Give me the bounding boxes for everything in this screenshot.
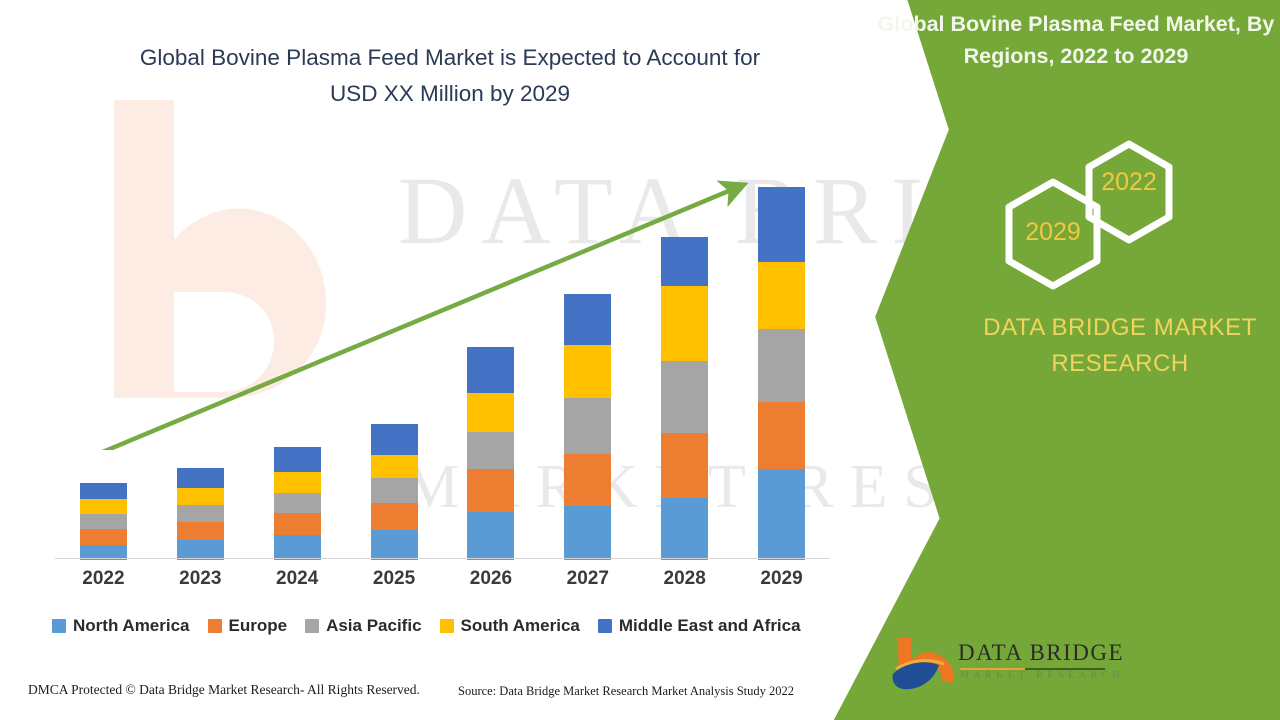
bar-segment bbox=[371, 478, 418, 503]
bar-segment bbox=[80, 514, 127, 529]
bar-segment bbox=[661, 498, 708, 560]
bar-segment bbox=[177, 540, 224, 560]
legend-item-asia-pacific[interactable]: Asia Pacific bbox=[305, 616, 421, 636]
bar-segment bbox=[758, 402, 805, 469]
x-axis-label-2025: 2025 bbox=[349, 568, 439, 590]
bar-segment bbox=[758, 262, 805, 329]
bar-segment bbox=[758, 187, 805, 262]
bar-2023 bbox=[177, 468, 224, 560]
x-axis-label-2027: 2027 bbox=[543, 568, 633, 590]
legend-swatch-icon bbox=[52, 619, 66, 633]
hexagon-label-2029: 2029 bbox=[1003, 218, 1103, 247]
bar-segment bbox=[274, 513, 321, 535]
bar-segment bbox=[661, 433, 708, 498]
x-axis-line bbox=[55, 558, 830, 559]
bar-segment bbox=[177, 505, 224, 522]
legend-label: Asia Pacific bbox=[326, 616, 421, 636]
bar-segment bbox=[758, 329, 805, 402]
legend-item-middle-east-and-africa[interactable]: Middle East and Africa bbox=[598, 616, 801, 636]
x-axis-label-2029: 2029 bbox=[737, 568, 827, 590]
bar-segment bbox=[274, 472, 321, 493]
bar-segment bbox=[274, 535, 321, 560]
bar-segment bbox=[467, 432, 514, 469]
hexagon-label-2022: 2022 bbox=[1083, 168, 1175, 197]
bar-segment bbox=[80, 529, 127, 545]
x-axis-label-2028: 2028 bbox=[640, 568, 730, 590]
bar-segment bbox=[371, 455, 418, 478]
bar-segment bbox=[274, 493, 321, 513]
bar-segment bbox=[80, 483, 127, 499]
bar-2022 bbox=[80, 483, 127, 560]
bar-2027 bbox=[564, 294, 611, 560]
legend-label: North America bbox=[73, 616, 190, 636]
x-axis-label-2022: 2022 bbox=[58, 568, 148, 590]
bar-segment bbox=[564, 345, 611, 398]
logo-name: DATA BRIDGE bbox=[958, 640, 1124, 666]
infographic-canvas: DATA BRIDGE MARKET RESEARCH Global Bovin… bbox=[0, 0, 1280, 720]
bar-segment bbox=[661, 361, 708, 433]
legend-item-europe[interactable]: Europe bbox=[208, 616, 288, 636]
panel-brand-line-2: RESEARCH bbox=[960, 346, 1280, 382]
bar-segment bbox=[467, 469, 514, 512]
bar-2029 bbox=[758, 187, 805, 560]
bar-segment bbox=[467, 393, 514, 432]
legend-swatch-icon bbox=[440, 619, 454, 633]
bar-segment bbox=[564, 294, 611, 345]
bar-segment bbox=[177, 522, 224, 540]
panel-brand-text: DATA BRIDGE MARKET RESEARCH bbox=[960, 310, 1280, 382]
footer-copyright: DMCA Protected © Data Bridge Market Rese… bbox=[28, 682, 420, 698]
legend-swatch-icon bbox=[305, 619, 319, 633]
data-bridge-logo-mark-icon bbox=[890, 636, 954, 696]
bar-segment bbox=[564, 398, 611, 454]
bar-segment bbox=[371, 503, 418, 530]
bar-segment bbox=[177, 488, 224, 505]
data-bridge-logo: DATA BRIDGE MARKET RESEARCH bbox=[890, 636, 1120, 698]
bar-2028 bbox=[661, 237, 708, 560]
bar-segment bbox=[661, 237, 708, 286]
panel-brand-line-1: DATA BRIDGE MARKET bbox=[960, 310, 1280, 346]
x-axis-label-2024: 2024 bbox=[252, 568, 342, 590]
bar-segment bbox=[758, 469, 805, 560]
stacked-bar-chart bbox=[55, 150, 830, 560]
bar-segment bbox=[661, 286, 708, 361]
bar-2026 bbox=[467, 347, 514, 560]
bar-segment bbox=[371, 424, 418, 455]
legend-label: Middle East and Africa bbox=[619, 616, 801, 636]
bar-segment bbox=[80, 499, 127, 514]
panel-title: Global Bovine Plasma Feed Market, By Reg… bbox=[876, 8, 1276, 72]
bar-segment bbox=[371, 530, 418, 560]
legend-item-south-america[interactable]: South America bbox=[440, 616, 580, 636]
legend-label: Europe bbox=[229, 616, 288, 636]
x-axis-tick-labels: 20222023202420252026202720282029 bbox=[55, 568, 830, 598]
bar-2025 bbox=[371, 424, 418, 560]
bar-2024 bbox=[274, 447, 321, 560]
footer-source: Source: Data Bridge Market Research Mark… bbox=[458, 684, 794, 699]
chart-legend: North AmericaEuropeAsia PacificSouth Ame… bbox=[52, 616, 801, 636]
x-axis-label-2023: 2023 bbox=[155, 568, 245, 590]
bar-segment bbox=[467, 512, 514, 560]
footer: DMCA Protected © Data Bridge Market Rese… bbox=[0, 676, 860, 720]
logo-subtitle: MARKET RESEARCH bbox=[960, 670, 1124, 681]
chart-title: Global Bovine Plasma Feed Market is Expe… bbox=[120, 40, 780, 112]
bar-segment bbox=[467, 347, 514, 393]
legend-swatch-icon bbox=[208, 619, 222, 633]
x-axis-label-2026: 2026 bbox=[446, 568, 536, 590]
bar-segment bbox=[564, 454, 611, 506]
legend-swatch-icon bbox=[598, 619, 612, 633]
bar-segment bbox=[177, 468, 224, 488]
legend-item-north-america[interactable]: North America bbox=[52, 616, 190, 636]
bar-segment bbox=[274, 447, 321, 472]
bar-segment bbox=[564, 506, 611, 560]
legend-label: South America bbox=[461, 616, 580, 636]
